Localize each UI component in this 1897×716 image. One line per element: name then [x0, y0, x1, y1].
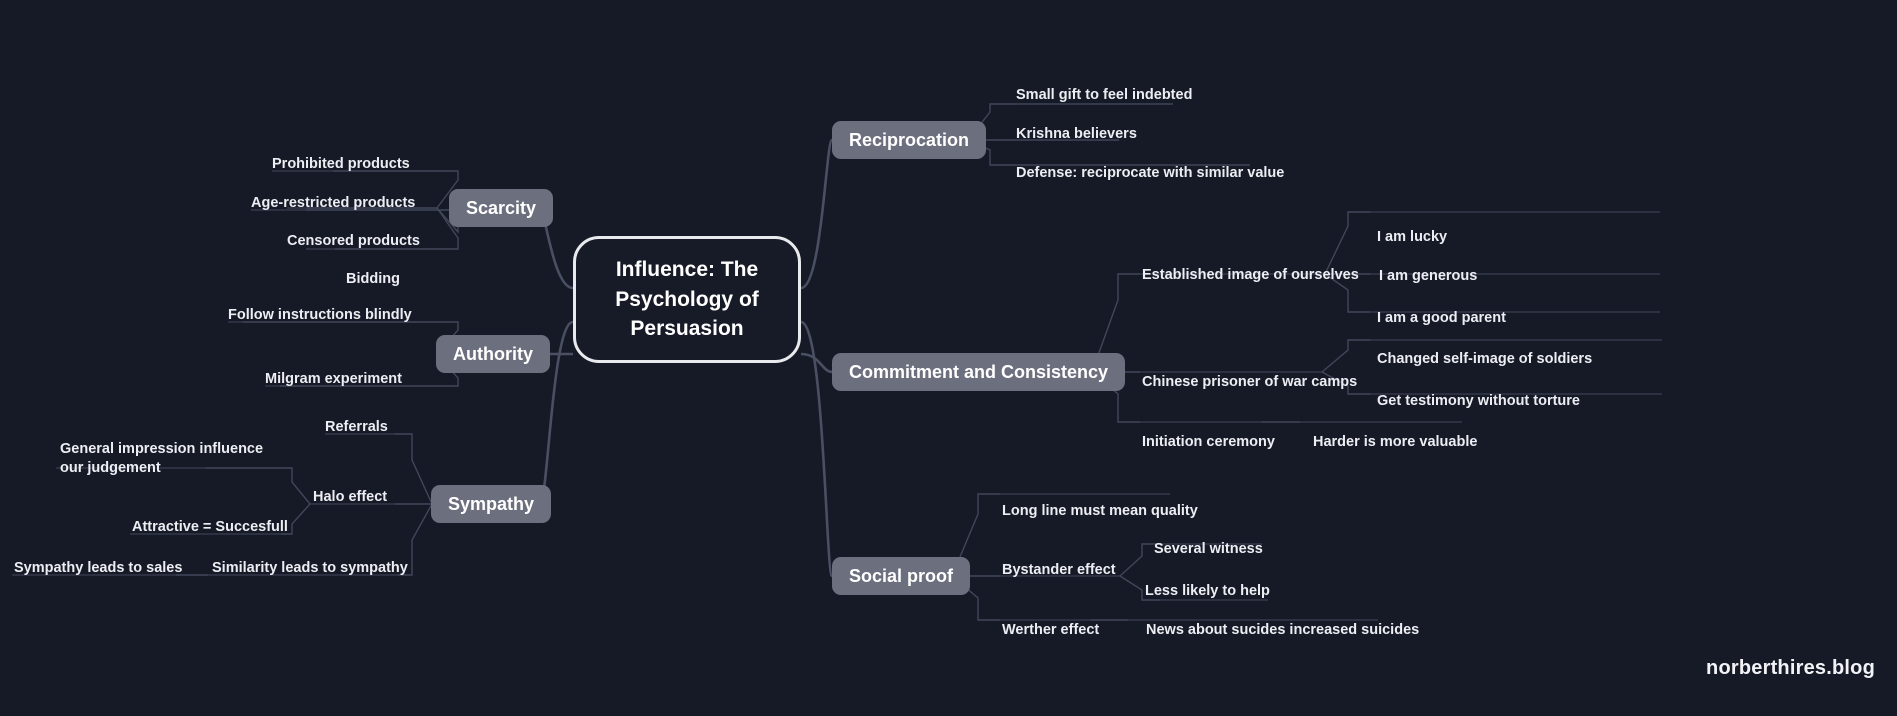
leaf-label: Bidding [346, 271, 400, 287]
leaf-label: Follow instructions blindly [228, 307, 412, 323]
leaf-label: Halo effect [313, 489, 387, 505]
leaf-label: Referrals [325, 419, 388, 435]
leaf-label: Small gift to feel indebted [1016, 87, 1192, 103]
leaf-changed-self-image-of-soldiers[interactable]: Changed self-image of soldiers [1377, 350, 1592, 369]
leaf-label: Changed self-image of soldiers [1377, 351, 1592, 367]
leaf-label: I am lucky [1377, 229, 1447, 245]
leaf-i-am-generous[interactable]: I am generous [1379, 267, 1477, 286]
leaf-i-am-lucky[interactable]: I am lucky [1377, 228, 1447, 247]
leaf-defense-reciprocate-with-similar-value[interactable]: Defense: reciprocate with similar value [1016, 164, 1284, 183]
leaf-label: Milgram experiment [265, 371, 402, 387]
leaf-sympathy-leads-to-sales[interactable]: Sympathy leads to sales [14, 559, 182, 578]
mindmap-canvas: Influence: The Psychology of Persuasion … [0, 0, 1897, 716]
leaf-harder-is-more-valuable[interactable]: Harder is more valuable [1313, 433, 1477, 452]
leaf-halo-effect[interactable]: Halo effect [313, 488, 387, 507]
leaf-get-testimony-without-torture[interactable]: Get testimony without torture [1377, 392, 1580, 411]
branch-scarcity-label: Scarcity [466, 198, 536, 219]
leaf-follow-instructions-blindly[interactable]: Follow instructions blindly [228, 306, 412, 325]
leaf-label: Harder is more valuable [1313, 434, 1477, 450]
leaf-label: Attractive = Succesfull [132, 519, 288, 535]
leaf-long-line-must-mean-quality[interactable]: Long line must mean quality [1002, 502, 1198, 521]
leaf-krishna-believers[interactable]: Krishna believers [1016, 125, 1137, 144]
leaf-bidding[interactable]: Bidding [346, 270, 400, 289]
branch-commitment-and-consistency-label: Commitment and Consistency [849, 362, 1108, 383]
watermark-label: norberthires.blog [1706, 657, 1875, 679]
branch-sympathy-label: Sympathy [448, 494, 534, 515]
branch-social-proof-label: Social proof [849, 566, 953, 587]
leaf-censored-products[interactable]: Censored products [287, 232, 420, 251]
leaf-label: I am generous [1379, 268, 1477, 284]
leaf-milgram-experiment[interactable]: Milgram experiment [265, 370, 402, 389]
leaf-label: Less likely to help [1145, 583, 1270, 599]
branch-authority[interactable]: Authority [436, 335, 550, 373]
leaf-label: News about sucides increased suicides [1146, 622, 1419, 638]
leaf-age-restricted-products[interactable]: Age-restricted products [251, 194, 415, 213]
branch-reciprocation[interactable]: Reciprocation [832, 121, 986, 159]
leaf-several-witness[interactable]: Several witness [1154, 540, 1263, 559]
branch-scarcity[interactable]: Scarcity [449, 189, 553, 227]
leaf-label: Initiation ceremony [1142, 434, 1275, 450]
branch-reciprocation-label: Reciprocation [849, 130, 969, 151]
leaf-werther-effect[interactable]: Werther effect [1002, 621, 1099, 640]
leaf-label: Bystander effect [1002, 562, 1116, 578]
leaf-label: General impression influence our judgeme… [60, 441, 263, 476]
branch-authority-label: Authority [453, 344, 533, 365]
leaf-label: Defense: reciprocate with similar value [1016, 165, 1284, 181]
leaf-label: Censored products [287, 233, 420, 249]
leaf-label: Krishna believers [1016, 126, 1137, 142]
leaf-attractive-equals-succesfull[interactable]: Attractive = Succesfull [132, 518, 288, 537]
leaf-label: Several witness [1154, 541, 1263, 557]
leaf-less-likely-to-help[interactable]: Less likely to help [1145, 582, 1270, 601]
leaf-label: Get testimony without torture [1377, 393, 1580, 409]
leaf-referrals[interactable]: Referrals [325, 418, 388, 437]
leaf-small-gift-to-feel-indebted[interactable]: Small gift to feel indebted [1016, 86, 1192, 105]
leaf-label: Prohibited products [272, 156, 410, 172]
root-node-label: Influence: The Psychology of Persuasion [590, 255, 784, 344]
branch-social-proof[interactable]: Social proof [832, 557, 970, 595]
leaf-chinese-prisoner-of-war-camps[interactable]: Chinese prisoner of war camps [1142, 373, 1357, 392]
branch-sympathy[interactable]: Sympathy [431, 485, 551, 523]
leaf-similarity-leads-to-sympathy[interactable]: Similarity leads to sympathy [212, 559, 408, 578]
leaf-established-image-of-ourselves[interactable]: Established image of ourselves [1142, 266, 1359, 285]
watermark: norberthires.blog [1706, 657, 1875, 680]
leaf-news-about-sucides-increased-suicides[interactable]: News about sucides increased suicides [1146, 621, 1419, 640]
leaf-prohibited-products[interactable]: Prohibited products [272, 155, 410, 174]
leaf-label: Chinese prisoner of war camps [1142, 374, 1357, 390]
leaf-bystander-effect[interactable]: Bystander effect [1002, 561, 1116, 580]
leaf-label: Sympathy leads to sales [14, 560, 182, 576]
leaf-label: Werther effect [1002, 622, 1099, 638]
leaf-label: Age-restricted products [251, 195, 415, 211]
leaf-label: Similarity leads to sympathy [212, 560, 408, 576]
root-node[interactable]: Influence: The Psychology of Persuasion [573, 236, 801, 363]
leaf-label: Long line must mean quality [1002, 503, 1198, 519]
leaf-initiation-ceremony[interactable]: Initiation ceremony [1142, 433, 1275, 452]
leaf-general-impression-influence-our-judgement[interactable]: General impression influence our judgeme… [60, 440, 275, 478]
leaf-label: Established image of ourselves [1142, 267, 1359, 283]
branch-commitment-and-consistency[interactable]: Commitment and Consistency [832, 353, 1125, 391]
leaf-i-am-a-good-parent[interactable]: I am a good parent [1377, 309, 1506, 328]
leaf-label: I am a good parent [1377, 310, 1506, 326]
